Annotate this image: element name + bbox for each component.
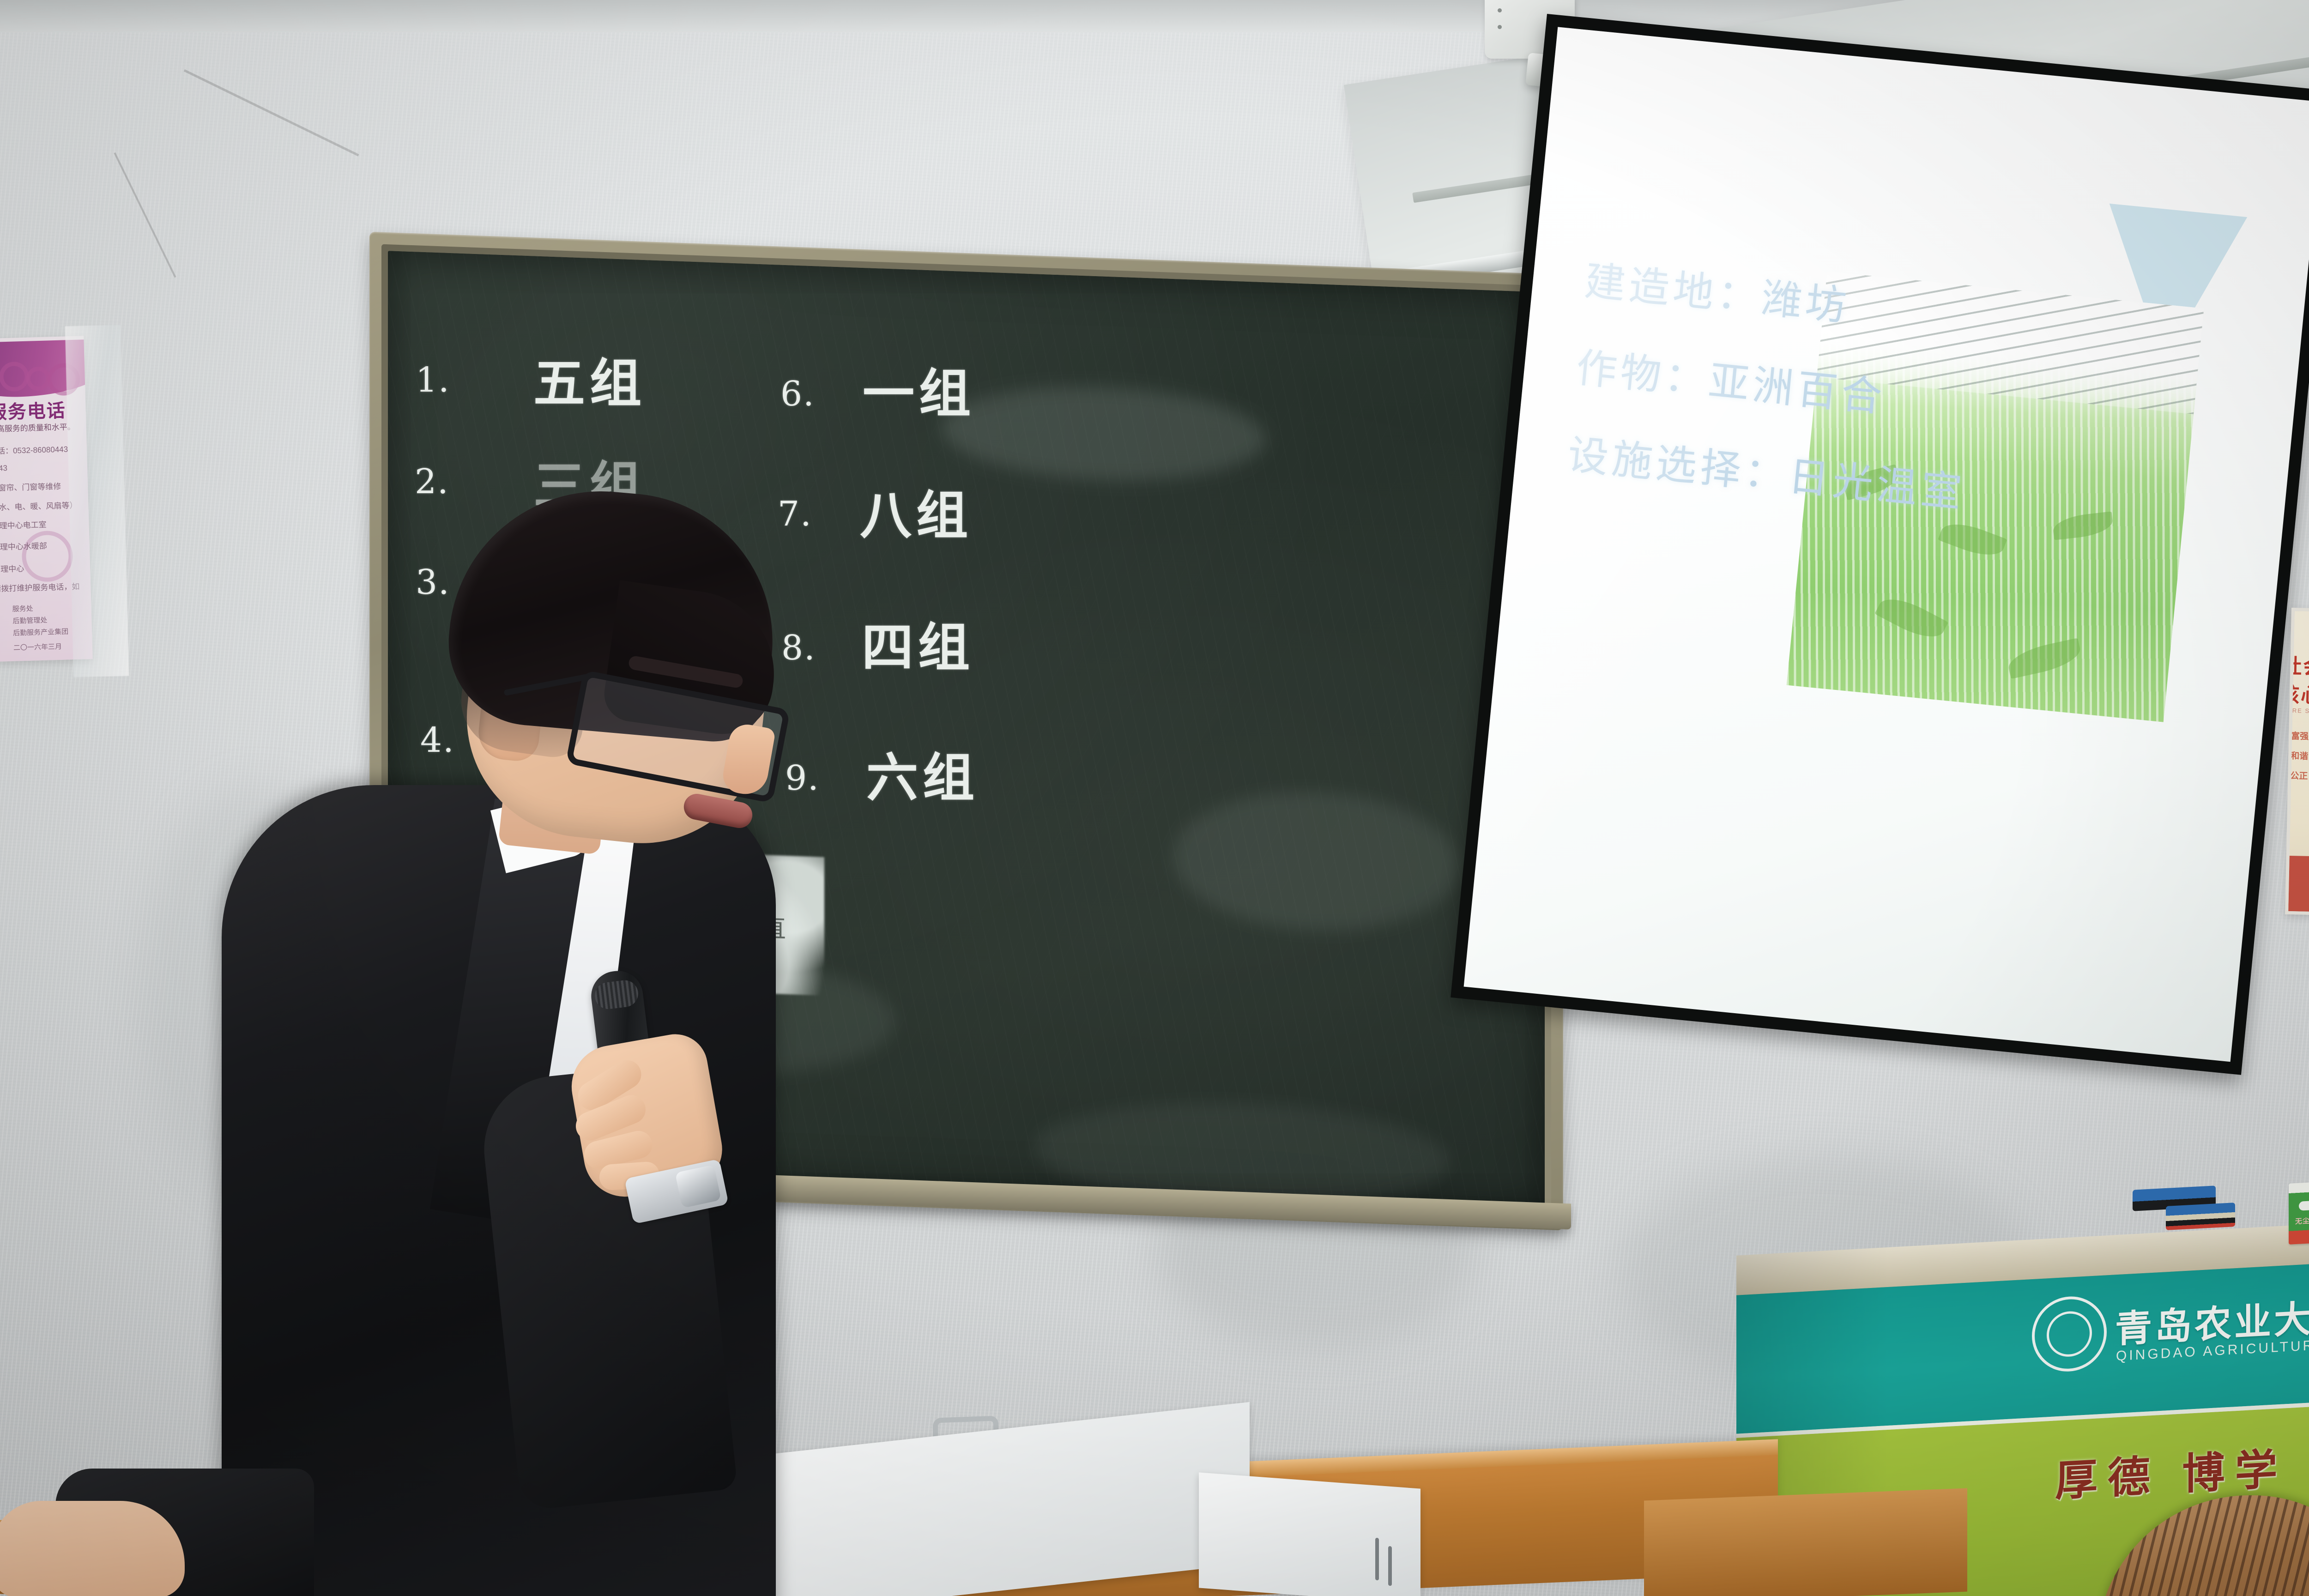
poster-title: 服务电话 bbox=[0, 395, 66, 424]
microphone-grille bbox=[593, 979, 640, 1010]
white-panel[interactable] bbox=[1199, 1472, 1420, 1596]
panel-slot bbox=[1388, 1546, 1392, 1586]
plant-leaf bbox=[1874, 590, 1948, 646]
slide-line-crop: 作物：亚洲百合 bbox=[1574, 335, 1977, 432]
side-desk bbox=[1644, 1488, 1967, 1596]
slide-content: 建造地：潍坊 作物：亚洲百合 设施选择：日光温室 bbox=[1464, 27, 2309, 1062]
value-item: 富强 bbox=[2285, 729, 2309, 742]
poster-row: 、窗帘、门窗等维修 bbox=[0, 480, 61, 493]
poster-footer-line: 后勤管理处 bbox=[12, 615, 48, 626]
poster-row: 电话：0532-86080443 bbox=[0, 442, 68, 456]
presenter bbox=[222, 526, 905, 1596]
chalk-list-text: 一组 bbox=[863, 352, 975, 427]
foreground-hand bbox=[0, 1501, 185, 1596]
poster-plastic-film bbox=[65, 325, 129, 677]
poster-footer-line: 服务处 bbox=[12, 604, 33, 614]
poster-row: 请拨打维护服务电话，如 bbox=[0, 580, 80, 594]
chalk-box[interactable]: 无尘粉笔 bbox=[2289, 1181, 2309, 1245]
plant-leaf bbox=[2006, 638, 2083, 679]
screen-border: 建造地：潍坊 作物：亚洲百合 设施选择：日光温室 bbox=[1451, 14, 2309, 1075]
panel-slot bbox=[1375, 1538, 1379, 1581]
poster-footer-line: 二〇一六年三月 bbox=[13, 641, 62, 653]
poster-row: 0443 bbox=[0, 464, 7, 473]
chalk-list-number: 2. bbox=[415, 462, 449, 502]
projection-screen: Redleaf 建造地：潍坊 作物：亚洲百合 bbox=[1556, 37, 2309, 1145]
poster-row: （水、电、暖、风扇等） bbox=[0, 499, 78, 513]
flag-illustration bbox=[2288, 856, 2309, 913]
blackboard-eraser[interactable] bbox=[2166, 1203, 2235, 1230]
value-item: 和谐 bbox=[2285, 749, 2309, 762]
chalk-box-label: 无尘粉笔 bbox=[2295, 1215, 2309, 1226]
poster-footer-line: 后勤服务产业集团 bbox=[13, 626, 69, 637]
poster-circle bbox=[21, 530, 73, 582]
screen-surface: 建造地：潍坊 作物：亚洲百合 设施选择：日光温室 bbox=[1464, 27, 2309, 1062]
poster-subtitle: 提高服务的质量和水平。 bbox=[0, 420, 75, 434]
chalk-list-number: 6. bbox=[780, 374, 815, 414]
slide-text-block: 建造地：潍坊 作物：亚洲百合 设施选择：日光温室 bbox=[1563, 248, 1985, 548]
chalk-list-number: 1. bbox=[416, 360, 450, 400]
slide-line-facility: 设施选择：日光温室 bbox=[1566, 422, 1968, 519]
slide-line-location: 建造地：潍坊 bbox=[1583, 248, 1985, 345]
plant-leaf bbox=[2052, 511, 2114, 540]
poster-row: 管理中心 bbox=[0, 562, 24, 574]
poster-row: 管理中心水暖部 bbox=[0, 539, 47, 552]
values-grid: 富强 民主 文明 和谐 自由 平等 公正 法治 爱国 bbox=[2285, 729, 2309, 784]
poster-row: 管理中心电工室 bbox=[0, 518, 47, 531]
classroom-scene: 1. 五组 2. 三组 3. 4. 5. 6. 一组 7. 八组 8. 四组 9… bbox=[0, 0, 2309, 1596]
value-item: 公正 bbox=[2285, 769, 2309, 782]
chalk-list-text: 五组 bbox=[533, 342, 646, 417]
